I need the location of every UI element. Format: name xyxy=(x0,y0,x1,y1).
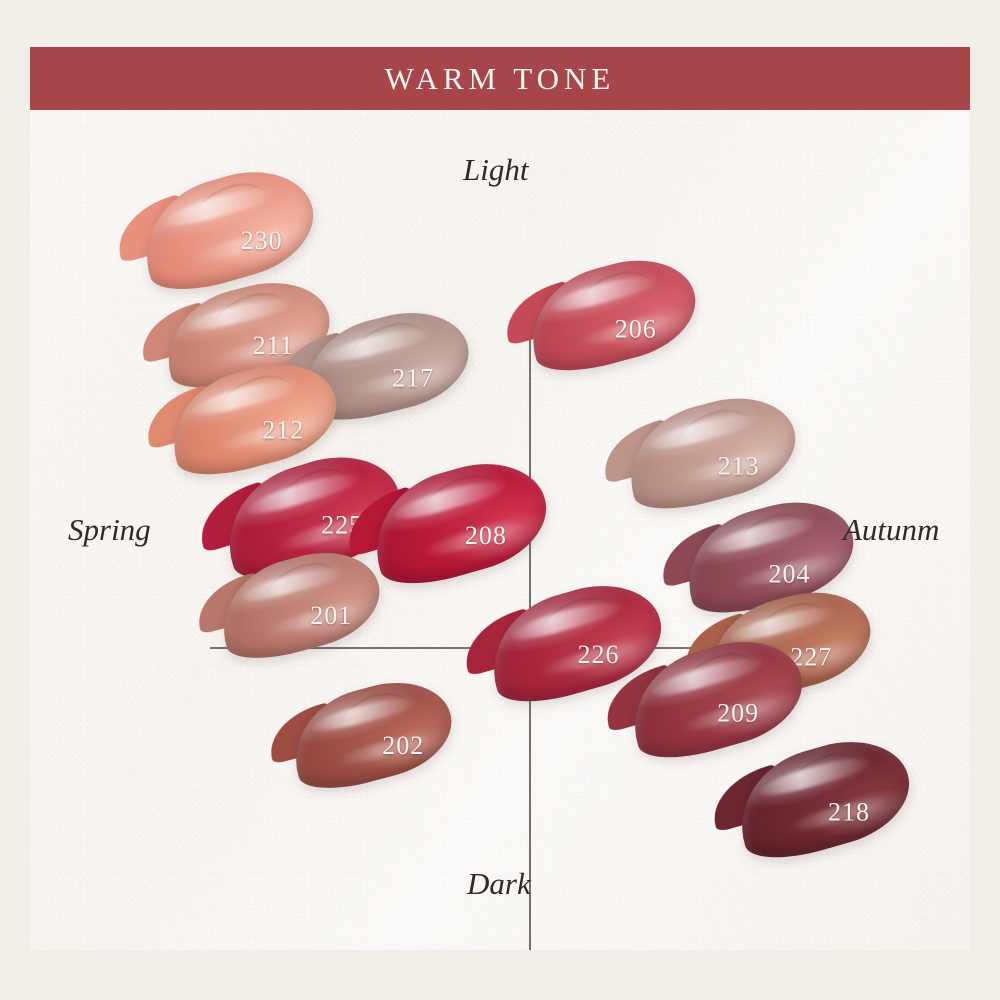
swatch-sheen xyxy=(265,600,360,638)
axis-label-autumn: Autunm xyxy=(843,512,939,548)
axis-label-light: Light xyxy=(463,152,528,188)
shade-swatch: 218 xyxy=(725,726,922,871)
swatch-sheen xyxy=(679,693,781,736)
swatch-sheen xyxy=(217,414,316,453)
page-title: WARM TONE xyxy=(385,61,616,97)
swatch-sheen xyxy=(674,448,774,488)
swatch-sheen xyxy=(337,730,432,768)
swatch-sheen xyxy=(576,310,675,349)
swatch-body xyxy=(616,383,807,520)
swatch-body xyxy=(517,246,706,383)
swatch-sheen xyxy=(786,793,888,836)
shade-swatch: 206 xyxy=(517,246,706,383)
swatch-sheen xyxy=(421,517,525,560)
axis-label-spring: Spring xyxy=(68,512,151,548)
shade-swatch: 213 xyxy=(616,383,807,520)
swatch-body xyxy=(281,668,462,799)
axis-label-dark: Dark xyxy=(467,866,531,902)
shade-chart-page: WARM TONE 230211217212225208201202206213… xyxy=(0,0,1000,1000)
swatch-sheen xyxy=(190,224,292,267)
header-band: WARM TONE xyxy=(30,47,970,110)
swatch-sheen xyxy=(732,552,832,592)
swatch-sheen xyxy=(348,362,447,400)
shade-swatch: 202 xyxy=(281,668,462,799)
chart-canvas: 2302112172122252082012022062132042272262… xyxy=(30,110,970,950)
swatch-body xyxy=(725,726,922,871)
